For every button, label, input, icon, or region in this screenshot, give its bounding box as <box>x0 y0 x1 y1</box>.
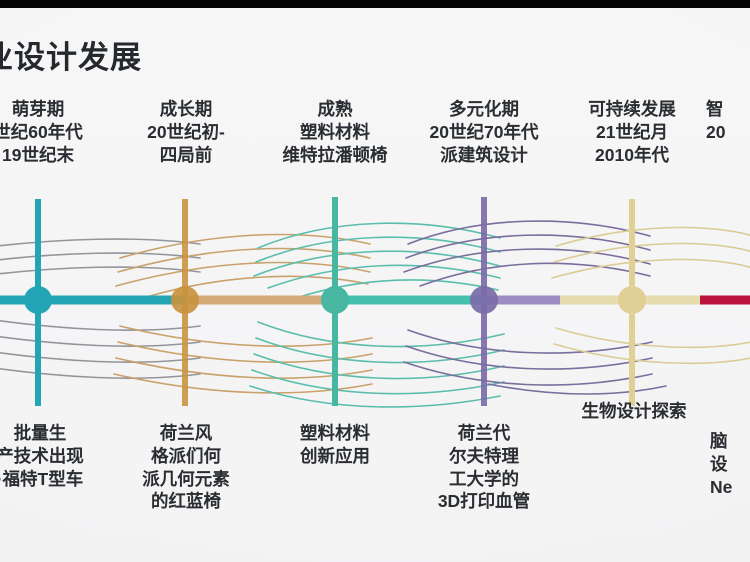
node-top-label-0: 萌芽期 世纪60年代 19世纪末 <box>0 98 118 166</box>
node-bottom-label-3: 荷兰代 尔夫特理 工大学的 3D打印血管 <box>398 422 570 513</box>
node-bottom-label-2: 塑料材料 创新应用 <box>255 422 415 468</box>
node-top-label-4: 可持续发展 21世纪月 2010年代 <box>552 98 712 166</box>
letterbox-bar <box>0 0 750 8</box>
node-top-label-5: 智 20 <box>706 98 750 144</box>
page-title: 业设计发展 <box>0 32 142 77</box>
node-bottom-label-5: 脑 设 Ne <box>710 430 750 498</box>
node-top-label-3: 多元化期 20世纪70年代 派建筑设计 <box>396 98 572 166</box>
timeline-slide: 业设计发展 <box>0 0 750 562</box>
node-bottom-label-1: 荷兰风 格派们何 派几何元素 的红蓝椅 <box>102 422 270 513</box>
node-bottom-label-4: 生物设计探索 <box>546 400 722 423</box>
node-top-label-1: 成长期 20世纪初- 四局前 <box>106 98 266 166</box>
